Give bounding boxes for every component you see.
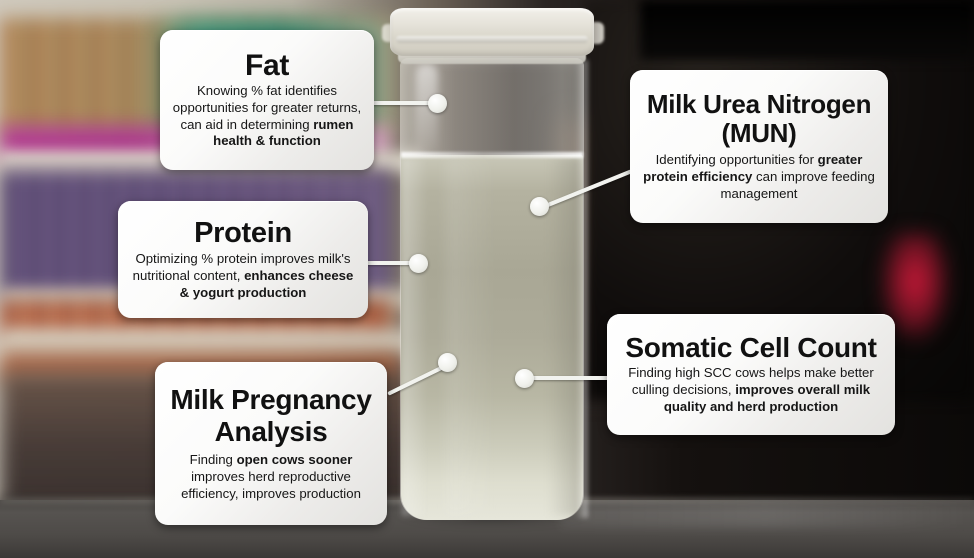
callout-milk-pregnancy-analysis[interactable]: Milk Pregnancy Analysis Finding open cow… [155, 362, 387, 525]
callout-milk-pregnancy-analysis-body: Finding open cows sooner improves herd r… [167, 452, 375, 503]
callout-fat-title: Fat [245, 50, 289, 81]
callout-somatic-cell-count[interactable]: Somatic Cell Count Finding high SCC cows… [607, 314, 895, 435]
callout-fat[interactable]: Fat Knowing % fat identifies opportuniti… [160, 30, 374, 170]
milk-left-sheen [402, 158, 428, 516]
callout-milk-urea-nitrogen[interactable]: Milk Urea Nitrogen (MUN) Identifying opp… [630, 70, 888, 223]
callout-somatic-cell-count-title: Somatic Cell Count [625, 333, 876, 362]
milk-highlight-band [446, 158, 496, 514]
lid-groove [396, 36, 588, 43]
connector-dot-protein [409, 254, 428, 273]
connector-dot-fat [428, 94, 447, 113]
callout-somatic-cell-count-body: Finding high SCC cows helps make better … [619, 365, 883, 416]
connector-line-somatic-cell-count [528, 376, 612, 380]
connector-dot-milk-urea-nitrogen [530, 197, 549, 216]
callout-milk-urea-nitrogen-body: Identifying opportunities for greater pr… [642, 152, 876, 203]
infographic-canvas: Fat Knowing % fat identifies opportuniti… [0, 0, 974, 558]
callout-protein-title: Protein [194, 218, 292, 248]
callout-protein[interactable]: Protein Optimizing % protein improves mi… [118, 201, 368, 318]
counter-sheen [560, 502, 974, 528]
callout-milk-urea-nitrogen-title: Milk Urea Nitrogen (MUN) [642, 90, 876, 147]
callout-fat-body: Knowing % fat identifies opportunities f… [172, 83, 362, 151]
bottle-right-edge [576, 60, 588, 518]
callout-protein-body: Optimizing % protein improves milk's nut… [130, 251, 356, 302]
bottle-lid [390, 8, 594, 56]
connector-dot-somatic-cell-count [515, 369, 534, 388]
background-dark-top-right [640, 0, 974, 60]
connector-dot-milk-pregnancy-analysis [438, 353, 457, 372]
callout-milk-pregnancy-analysis-title: Milk Pregnancy Analysis [167, 384, 375, 447]
